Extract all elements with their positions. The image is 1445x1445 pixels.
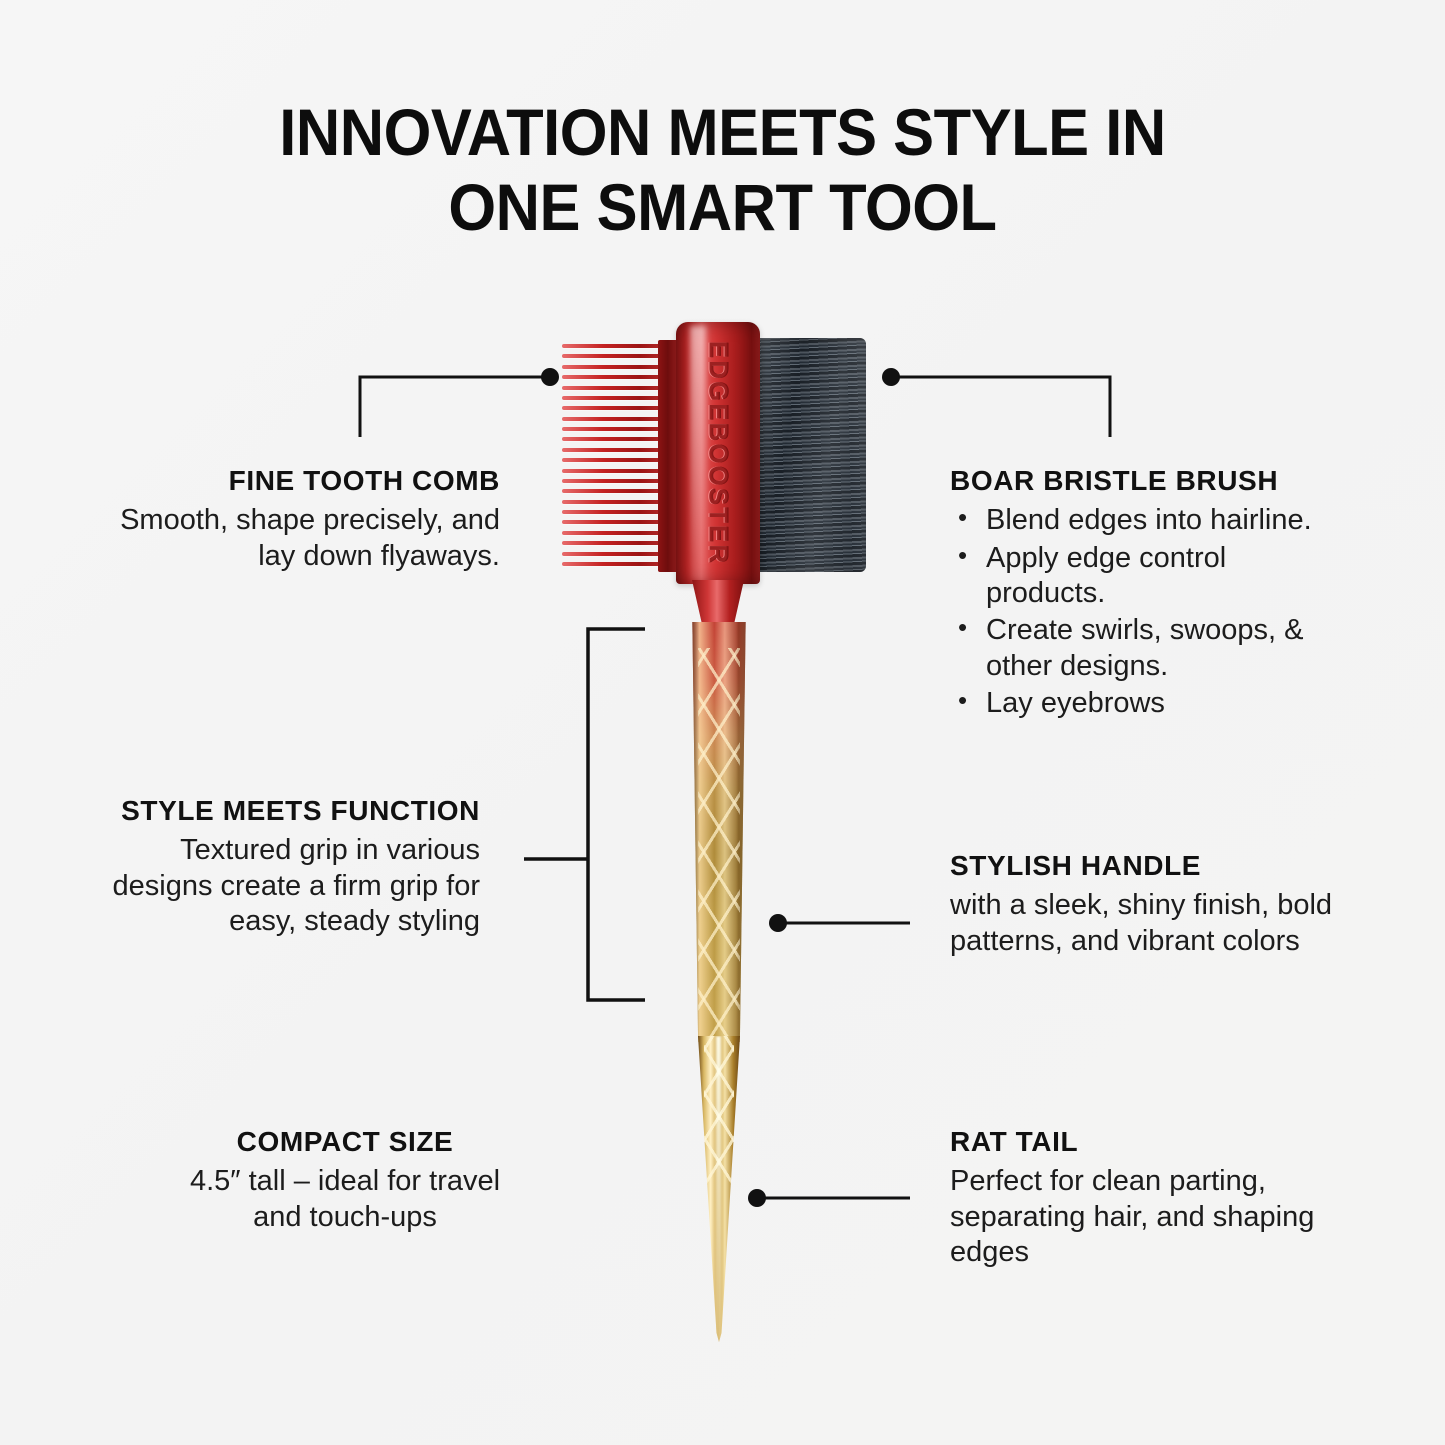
brand-logo-text: EDGEBOOSTER — [703, 341, 734, 565]
list-item: Blend edges into hairline. — [950, 503, 1350, 538]
list-item: Create swirls, swoops, & other designs. — [950, 613, 1350, 684]
rat-tail-part — [698, 1036, 740, 1342]
handle-lattice-texture — [698, 648, 740, 1042]
brush-neck — [692, 580, 744, 626]
feature-style-meets-function: STYLE MEETS FUNCTION Textured grip in va… — [80, 795, 480, 939]
fine-tooth-comb-part — [562, 344, 670, 566]
infographic-canvas: INNOVATION MEETS STYLE IN ONE SMART TOOL — [0, 0, 1445, 1445]
comb-tooth — [562, 520, 670, 524]
comb-tooth — [562, 344, 670, 348]
page-title-line-1: INNOVATION MEETS STYLE IN — [51, 95, 1395, 170]
feature-bullets-boar-bristle-brush: Blend edges into hairline. Apply edge co… — [950, 503, 1350, 721]
comb-tooth — [562, 562, 670, 566]
feature-body-fine-tooth-comb: Smooth, shape precisely, and lay down fl… — [100, 503, 500, 574]
comb-tooth — [562, 448, 670, 452]
comb-tooth — [562, 375, 670, 379]
comb-tooth — [562, 417, 670, 421]
feature-boar-bristle-brush: BOAR BRISTLE BRUSH Blend edges into hair… — [950, 465, 1350, 723]
feature-compact-size: COMPACT SIZE 4.5″ tall – ideal for trave… — [185, 1126, 505, 1235]
tail-shine-highlight — [716, 1036, 721, 1342]
feature-stylish-handle: STYLISH HANDLE with a sleek, shiny finis… — [950, 850, 1350, 959]
comb-tooth — [562, 365, 670, 369]
list-item: Apply edge control products. — [950, 541, 1350, 612]
feature-heading-fine-tooth-comb: FINE TOOTH COMB — [100, 465, 500, 497]
comb-tooth — [562, 437, 670, 441]
comb-tooth — [562, 396, 670, 400]
comb-tooth — [562, 541, 670, 545]
stylish-handle-part — [690, 622, 748, 1042]
comb-tooth — [562, 458, 670, 462]
product-image-edge-booster-brush: EDGEBOOSTER — [540, 310, 900, 1350]
feature-heading-compact-size: COMPACT SIZE — [185, 1126, 505, 1158]
feature-body-compact-size: 4.5″ tall – ideal for travel and touch-u… — [185, 1164, 505, 1235]
comb-tooth — [562, 354, 670, 358]
list-item: Lay eyebrows — [950, 686, 1350, 721]
comb-tooth — [562, 489, 670, 493]
feature-heading-style-meets-function: STYLE MEETS FUNCTION — [80, 795, 480, 827]
comb-tooth — [562, 427, 670, 431]
handle-shade-left — [690, 622, 700, 1042]
comb-tooth — [562, 406, 670, 410]
feature-body-style-meets-function: Textured grip in various designs create … — [80, 833, 480, 939]
handle-shade-right — [736, 622, 748, 1042]
leader-fine-tooth-comb — [360, 368, 559, 437]
comb-tooth — [562, 552, 670, 556]
page-title-line-2: ONE SMART TOOL — [51, 170, 1395, 245]
page-title: INNOVATION MEETS STYLE IN ONE SMART TOOL — [0, 95, 1445, 245]
comb-tooth — [562, 500, 670, 504]
feature-fine-tooth-comb: FINE TOOTH COMB Smooth, shape precisely,… — [100, 465, 500, 574]
comb-tooth — [562, 531, 670, 535]
feature-rat-tail: RAT TAIL Perfect for clean parting, sepa… — [950, 1126, 1350, 1270]
feature-heading-stylish-handle: STYLISH HANDLE — [950, 850, 1350, 882]
comb-tooth — [562, 386, 670, 390]
feature-body-stylish-handle: with a sleek, shiny finish, bold pattern… — [950, 888, 1350, 959]
leader-boar-bristle-brush — [882, 368, 1110, 437]
feature-heading-boar-bristle-brush: BOAR BRISTLE BRUSH — [950, 465, 1350, 497]
boar-bristle-brush-part — [756, 338, 866, 572]
comb-tooth — [562, 479, 670, 483]
comb-tooth — [562, 510, 670, 514]
comb-tooth — [562, 469, 670, 473]
brush-body-red: EDGEBOOSTER — [676, 322, 760, 584]
feature-heading-rat-tail: RAT TAIL — [950, 1126, 1350, 1158]
feature-body-rat-tail: Perfect for clean parting, separating ha… — [950, 1164, 1350, 1270]
